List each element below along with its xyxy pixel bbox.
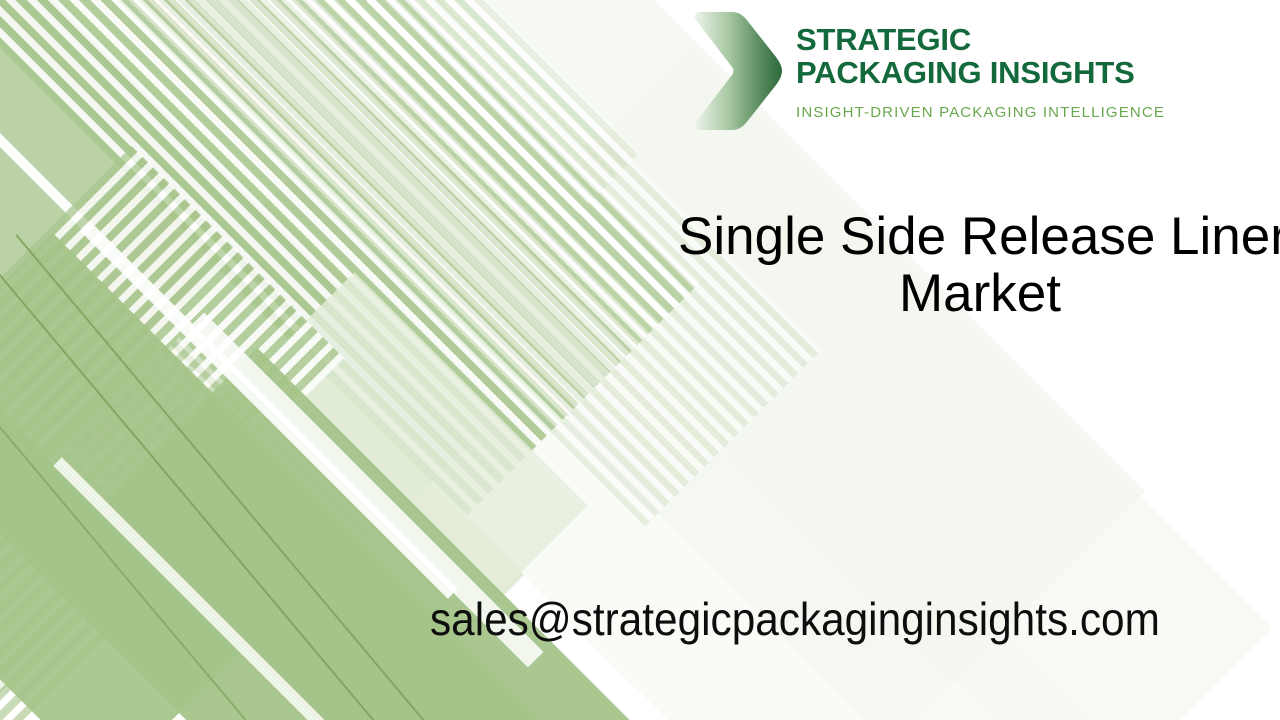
- decor-ghost-slab: [416, 256, 1123, 720]
- decor-hairline: [15, 234, 646, 720]
- decor-striped-band: [342, 0, 639, 238]
- page-title-line2: Market: [678, 265, 1280, 322]
- decor-hairline: [0, 231, 287, 720]
- brand-logo: STRATEGIC PACKAGING INSIGHTS INSIGHT-DRI…: [688, 8, 1165, 134]
- chevron-right-icon: [688, 8, 784, 134]
- logo-wordmark-line2: PACKAGING INSIGHTS: [796, 57, 1165, 90]
- decor-slab: [0, 0, 483, 643]
- decor-slab: [0, 0, 617, 512]
- decor-slab: [193, 63, 617, 487]
- decor-slab: [142, 272, 587, 717]
- decor-slab: [105, 348, 710, 720]
- decor-striped-band: [52, 337, 618, 720]
- title-slide: STRATEGIC PACKAGING INSIGHTS INSIGHT-DRI…: [0, 0, 1280, 720]
- decor-slab: [0, 233, 590, 720]
- logo-wordmark-line1: STRATEGIC: [796, 24, 1165, 57]
- contact-email: sales@strategicpackaginginsights.com: [430, 596, 1160, 642]
- logo-wordmark: STRATEGIC PACKAGING INSIGHTS INSIGHT-DRI…: [796, 8, 1165, 121]
- decor-white-slash: [80, 221, 458, 599]
- decor-slab: [36, 271, 524, 720]
- decor-white-slash: [53, 457, 358, 720]
- decor-slab: [0, 354, 241, 720]
- decor-white-slash: [0, 0, 290, 430]
- page-title-line1: Single Side Release Liner: [678, 207, 1280, 266]
- decor-striped-band: [0, 0, 700, 515]
- decor-striped-band: [0, 146, 344, 720]
- decor-striped-band: [0, 344, 278, 720]
- page-title: Single Side Release Liner Market: [678, 208, 1280, 322]
- logo-tagline: INSIGHT-DRIVEN PACKAGING INTELLIGENCE: [796, 104, 1165, 121]
